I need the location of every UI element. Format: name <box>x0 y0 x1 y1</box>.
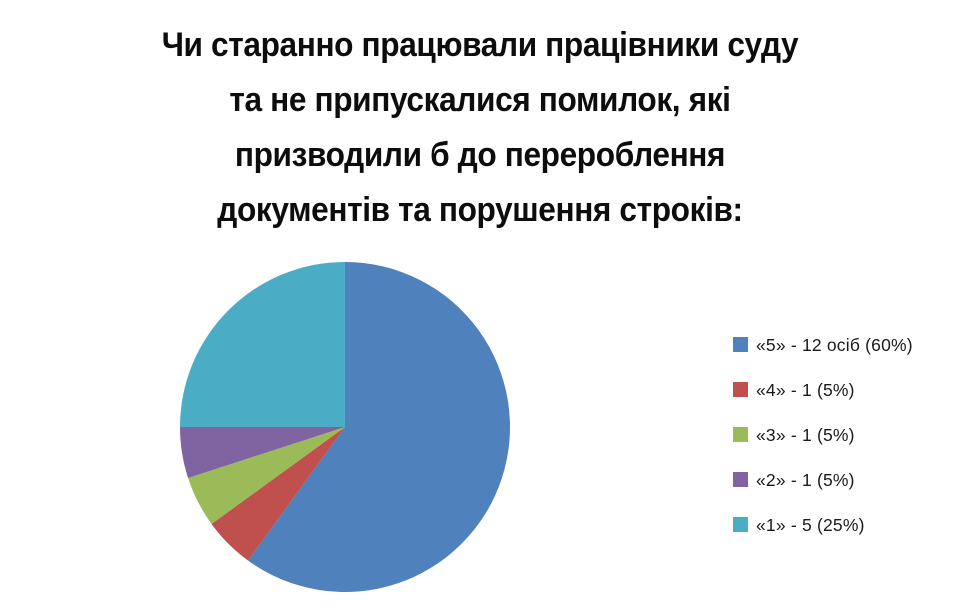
legend-item-label: «3» - 1 (5%) <box>756 425 855 445</box>
legend-swatch-icon <box>733 382 748 397</box>
pie-slices <box>180 262 510 592</box>
legend-swatch-icon <box>733 427 748 442</box>
legend-swatch-icon <box>733 517 748 532</box>
page-title: Чи старанно працювали працівники суду та… <box>71 18 889 238</box>
legend-item[interactable]: «3» - 1 (5%) <box>733 412 961 457</box>
legend-item-label: «5» - 12 осіб (60%) <box>756 335 913 355</box>
legend-item-label: «1» - 5 (25%) <box>756 515 865 535</box>
legend-item-label: «2» - 1 (5%) <box>756 470 855 490</box>
pie-slice[interactable] <box>180 262 345 427</box>
legend-item[interactable]: «4» - 1 (5%) <box>733 367 961 412</box>
legend-item-label: «4» - 1 (5%) <box>756 380 855 400</box>
legend-item[interactable]: «1» - 5 (25%) <box>733 502 961 547</box>
legend-swatch-icon <box>733 472 748 487</box>
pie-chart <box>180 262 510 592</box>
chart-legend: «5» - 12 осіб (60%) «4» - 1 (5%) «3» - 1… <box>733 322 961 547</box>
plot-area <box>0 250 700 615</box>
legend-item[interactable]: «5» - 12 осіб (60%) <box>733 322 961 367</box>
legend-swatch-icon <box>733 337 748 352</box>
legend-item[interactable]: «2» - 1 (5%) <box>733 457 961 502</box>
